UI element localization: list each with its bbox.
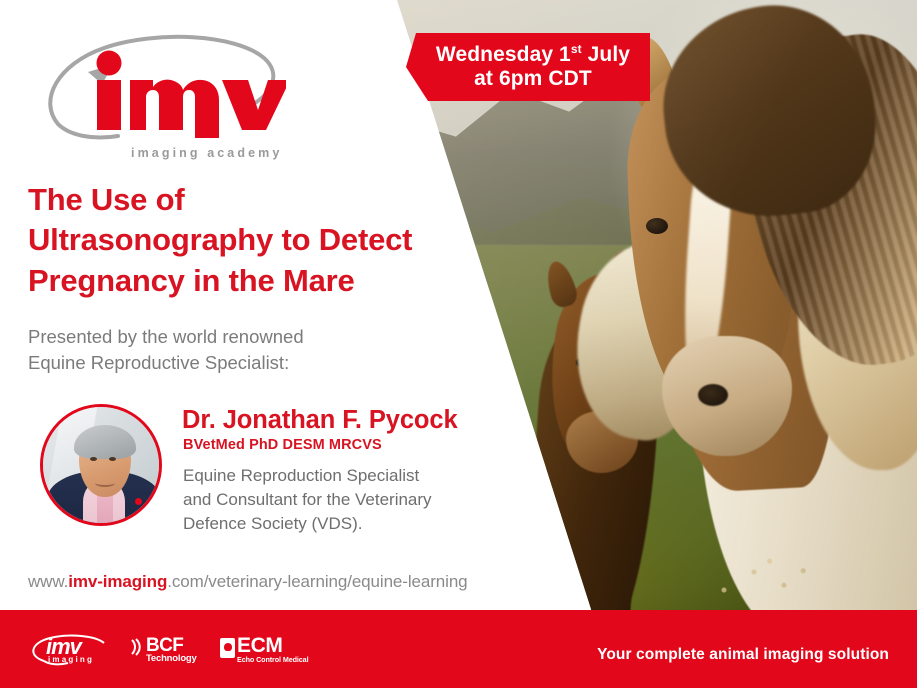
- speaker-portrait-avatar: [40, 404, 162, 526]
- title-line-3: Pregnancy in the Mare: [28, 261, 458, 301]
- logo-subtitle: imaging academy: [131, 146, 282, 160]
- lapel-pin-icon: [135, 498, 142, 505]
- date-line-1: Wednesday 1st July: [436, 43, 630, 67]
- ecm-sub: Echo Control Medical: [237, 655, 308, 664]
- url-brand: imv-imaging: [68, 572, 167, 591]
- page-title: The Use of Ultrasonography to Detect Pre…: [28, 180, 458, 301]
- logo-graphic: [36, 28, 286, 148]
- presented-by-text: Presented by the world renowned Equine R…: [28, 324, 428, 377]
- bcf-technology-footer-logo: BCF Technology: [132, 634, 206, 666]
- speaker-bio: Equine Reproduction Specialist and Consu…: [183, 464, 513, 536]
- presented-line-1: Presented by the world renowned: [28, 324, 428, 350]
- date-month: July: [582, 43, 630, 66]
- date-text: Wednesday 1: [436, 43, 571, 66]
- ecm-mark-icon: [220, 638, 235, 658]
- bcf-sub: Technology: [146, 653, 197, 664]
- date-ordinal-suffix: st: [571, 42, 582, 56]
- date-banner: Wednesday 1st July at 6pm CDT: [398, 33, 650, 101]
- url-prefix: www.: [28, 572, 68, 591]
- ecm-footer-logo: ECM Echo Control Medical: [220, 634, 312, 666]
- presented-line-2: Equine Reproductive Specialist:: [28, 350, 428, 376]
- footer-bar: imv imaging BCF Technology ECM Echo Cont…: [0, 610, 917, 688]
- title-line-2: Ultrasonography to Detect: [28, 220, 458, 260]
- speaker-credentials: BVetMed PhD DESM MRCVS: [183, 437, 382, 453]
- url-path: .com/veterinary-learning/equine-learning: [167, 572, 467, 591]
- webinar-promo-poster: Wednesday 1st July at 6pm CDT imaging ac…: [0, 0, 917, 688]
- website-url[interactable]: www.imv-imaging.com/veterinary-learning/…: [28, 572, 468, 592]
- speaker-name: Dr. Jonathan F. Pycock: [182, 406, 458, 435]
- imv-footer-sub: imaging: [48, 655, 94, 664]
- bio-line-2: and Consultant for the Veterinary: [183, 488, 513, 512]
- bcf-wave-icon: [130, 638, 144, 658]
- footer-tagline: Your complete animal imaging solution: [597, 646, 889, 664]
- imv-imaging-academy-logo: imaging academy: [36, 28, 286, 148]
- date-line-2: at 6pm CDT: [474, 67, 592, 91]
- title-line-1: The Use of: [28, 180, 458, 220]
- bio-line-1: Equine Reproduction Specialist: [183, 464, 513, 488]
- footer-brand-logos: imv imaging BCF Technology ECM Echo Cont…: [26, 634, 312, 666]
- bio-line-3: Defence Society (VDS).: [183, 512, 513, 536]
- imv-imaging-footer-logo: imv imaging: [26, 634, 118, 666]
- grass-seedhead: [700, 548, 820, 608]
